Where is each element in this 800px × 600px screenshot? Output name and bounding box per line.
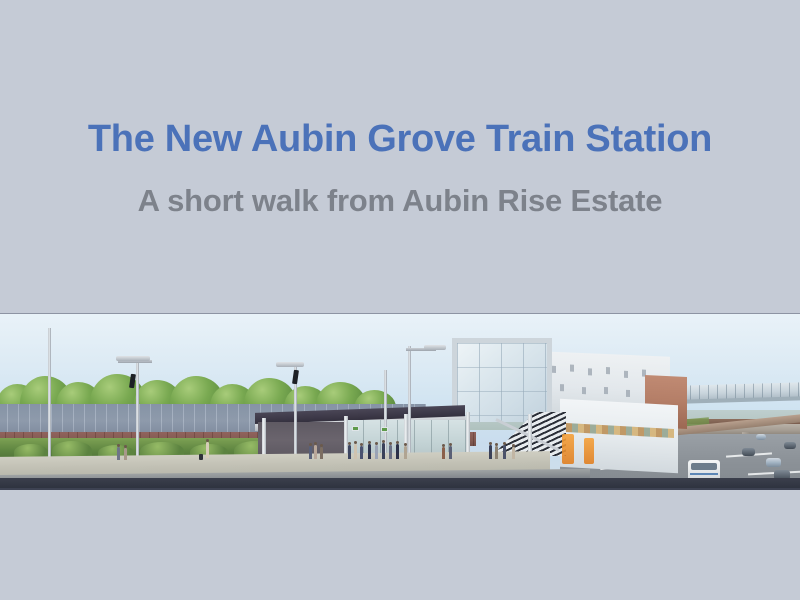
pedestrian: [495, 446, 498, 459]
pedestrian: [512, 447, 515, 459]
pedestrian: [314, 445, 317, 459]
wayfinding-sign: [352, 426, 359, 431]
luggage: [199, 454, 203, 460]
pedestrian: [489, 445, 492, 459]
car: [766, 458, 781, 467]
pedestrian: [348, 445, 351, 459]
pedestrian: [382, 443, 385, 459]
lamp-head: [276, 362, 304, 367]
pedestrian: [404, 446, 407, 459]
title-block: The New Aubin Grove Train Station A shor…: [0, 118, 800, 218]
light-pole: [136, 360, 139, 468]
light-pole: [408, 346, 411, 468]
pedestrian: [360, 446, 363, 459]
lamp-head: [424, 345, 446, 350]
wayfinding-sign: [381, 427, 388, 432]
railway-track: [0, 478, 800, 488]
pedestrian: [206, 442, 209, 458]
render-scene: [0, 314, 800, 488]
light-pole: [48, 328, 51, 468]
car: [784, 442, 796, 449]
glass-stair-tower: [452, 338, 552, 422]
pedestrian: [124, 448, 127, 460]
pedestrian: [396, 444, 399, 459]
car: [742, 448, 755, 456]
page-subtitle: A short walk from Aubin Rise Estate: [0, 183, 800, 219]
pedestrian: [320, 447, 323, 459]
pedestrian: [389, 445, 392, 459]
page-title: The New Aubin Grove Train Station: [0, 118, 800, 161]
van-windscreen: [691, 463, 717, 470]
station-render-image: [0, 313, 800, 490]
orange-accent: [562, 434, 574, 464]
tower-glazing: [457, 343, 547, 422]
pedestrian: [354, 444, 357, 459]
van-stripe: [690, 473, 718, 475]
pedestrian: [309, 446, 312, 459]
pedestrian: [117, 447, 120, 460]
car: [756, 434, 766, 440]
orange-accent: [584, 438, 594, 464]
pedestrian: [368, 444, 371, 459]
slide-root: The New Aubin Grove Train Station A shor…: [0, 0, 800, 600]
pedestrian: [503, 445, 506, 459]
pedestrian: [442, 447, 445, 459]
lamp-head: [116, 356, 150, 361]
pedestrian: [449, 446, 452, 459]
pedestrian: [375, 445, 378, 459]
